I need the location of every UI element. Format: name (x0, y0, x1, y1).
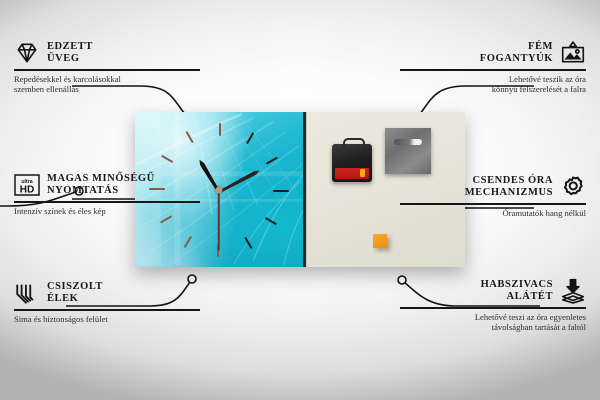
infographic-canvas: EDZETT ÜVEG Repedésekkel és karcolásokka… (0, 0, 600, 400)
feature-title-line-2: MECHANIZMUS (465, 187, 553, 199)
feature-title-line-1: CSENDES ÓRA (465, 175, 553, 187)
feature-callout-metal-handles: FÉM FOGANTYÚK Lehetővé teszik az óra kön… (400, 40, 586, 94)
feature-subtitle-line-2: távolságban tartását a faltól (400, 322, 586, 332)
feature-title-line-1: MAGAS MINŐSÉGŰ (47, 173, 155, 185)
feature-subtitle-line-1: Intenzív színek és éles kép (14, 206, 200, 216)
aa-battery (335, 168, 369, 179)
feature-title-line-1: EDZETT (47, 41, 93, 53)
callout-rule (14, 309, 200, 311)
feature-callout-polished-edges: CSISZOLT ÉLEK Sima és biztonságos felüle… (14, 280, 200, 324)
clock-second-hand (218, 190, 220, 250)
feature-callout-foam-pad: HABSZIVACS ALÁTÉT Lehetővé teszi az óra … (400, 278, 586, 332)
callout-rule (14, 69, 200, 71)
callout-rule (14, 201, 200, 203)
feature-callout-high-quality-print: ultra HD MAGAS MINŐSÉGŰ NYOMTATÁS Intenz… (14, 172, 200, 216)
diamond-icon (14, 40, 40, 66)
hanger-slot (394, 139, 422, 145)
feature-subtitle-line-1: Óramutatók hang nélkül (400, 208, 586, 218)
feature-subtitle-line-1: Repedésekkel és karcolásokkal (14, 74, 200, 84)
gear-icon (560, 174, 586, 200)
feature-subtitle-line-2: könnyű felszerelését a falra (400, 84, 586, 94)
ultra-hd-icon: ultra HD (14, 172, 40, 198)
foam-spacer-pad (373, 234, 387, 248)
quartz-clock-movement (332, 144, 372, 182)
feature-title-line-2: FOGANTYÚK (480, 53, 553, 65)
feature-subtitle-line-1: Lehetővé teszik az óra (400, 74, 586, 84)
foam-pad-icon (560, 278, 586, 304)
clock-center-cap (215, 186, 222, 193)
feature-callout-tempered-glass: EDZETT ÜVEG Repedésekkel és karcolásokka… (14, 40, 200, 94)
callout-rule (400, 69, 586, 71)
picture-hanger-icon (560, 40, 586, 66)
feature-subtitle-line-1: Lehetővé teszi az óra egyenletes (400, 312, 586, 322)
feature-title-line-2: ÉLEK (47, 293, 103, 305)
callout-rule (400, 203, 586, 205)
feature-subtitle-line-1: Sima és biztonságos felület (14, 314, 200, 324)
feature-title-line-1: CSISZOLT (47, 281, 103, 293)
feature-title-line-2: ALÁTÉT (481, 291, 553, 303)
metal-hanger-plate (385, 128, 431, 174)
callout-rule (400, 307, 586, 309)
feature-title-line-1: FÉM (480, 41, 553, 53)
feature-title-line-2: NYOMTATÁS (47, 185, 155, 197)
feature-title-line-1: HABSZIVACS (481, 279, 553, 291)
feature-callout-silent-mechanism: CSENDES ÓRA MECHANIZMUS Óramutatók hang … (400, 174, 586, 218)
feature-title-line-2: ÜVEG (47, 53, 93, 65)
ultra-hd-icon-bottom: HD (20, 185, 34, 196)
polished-edges-icon (14, 280, 40, 306)
feature-subtitle-line-2: szemben ellenállás (14, 84, 200, 94)
